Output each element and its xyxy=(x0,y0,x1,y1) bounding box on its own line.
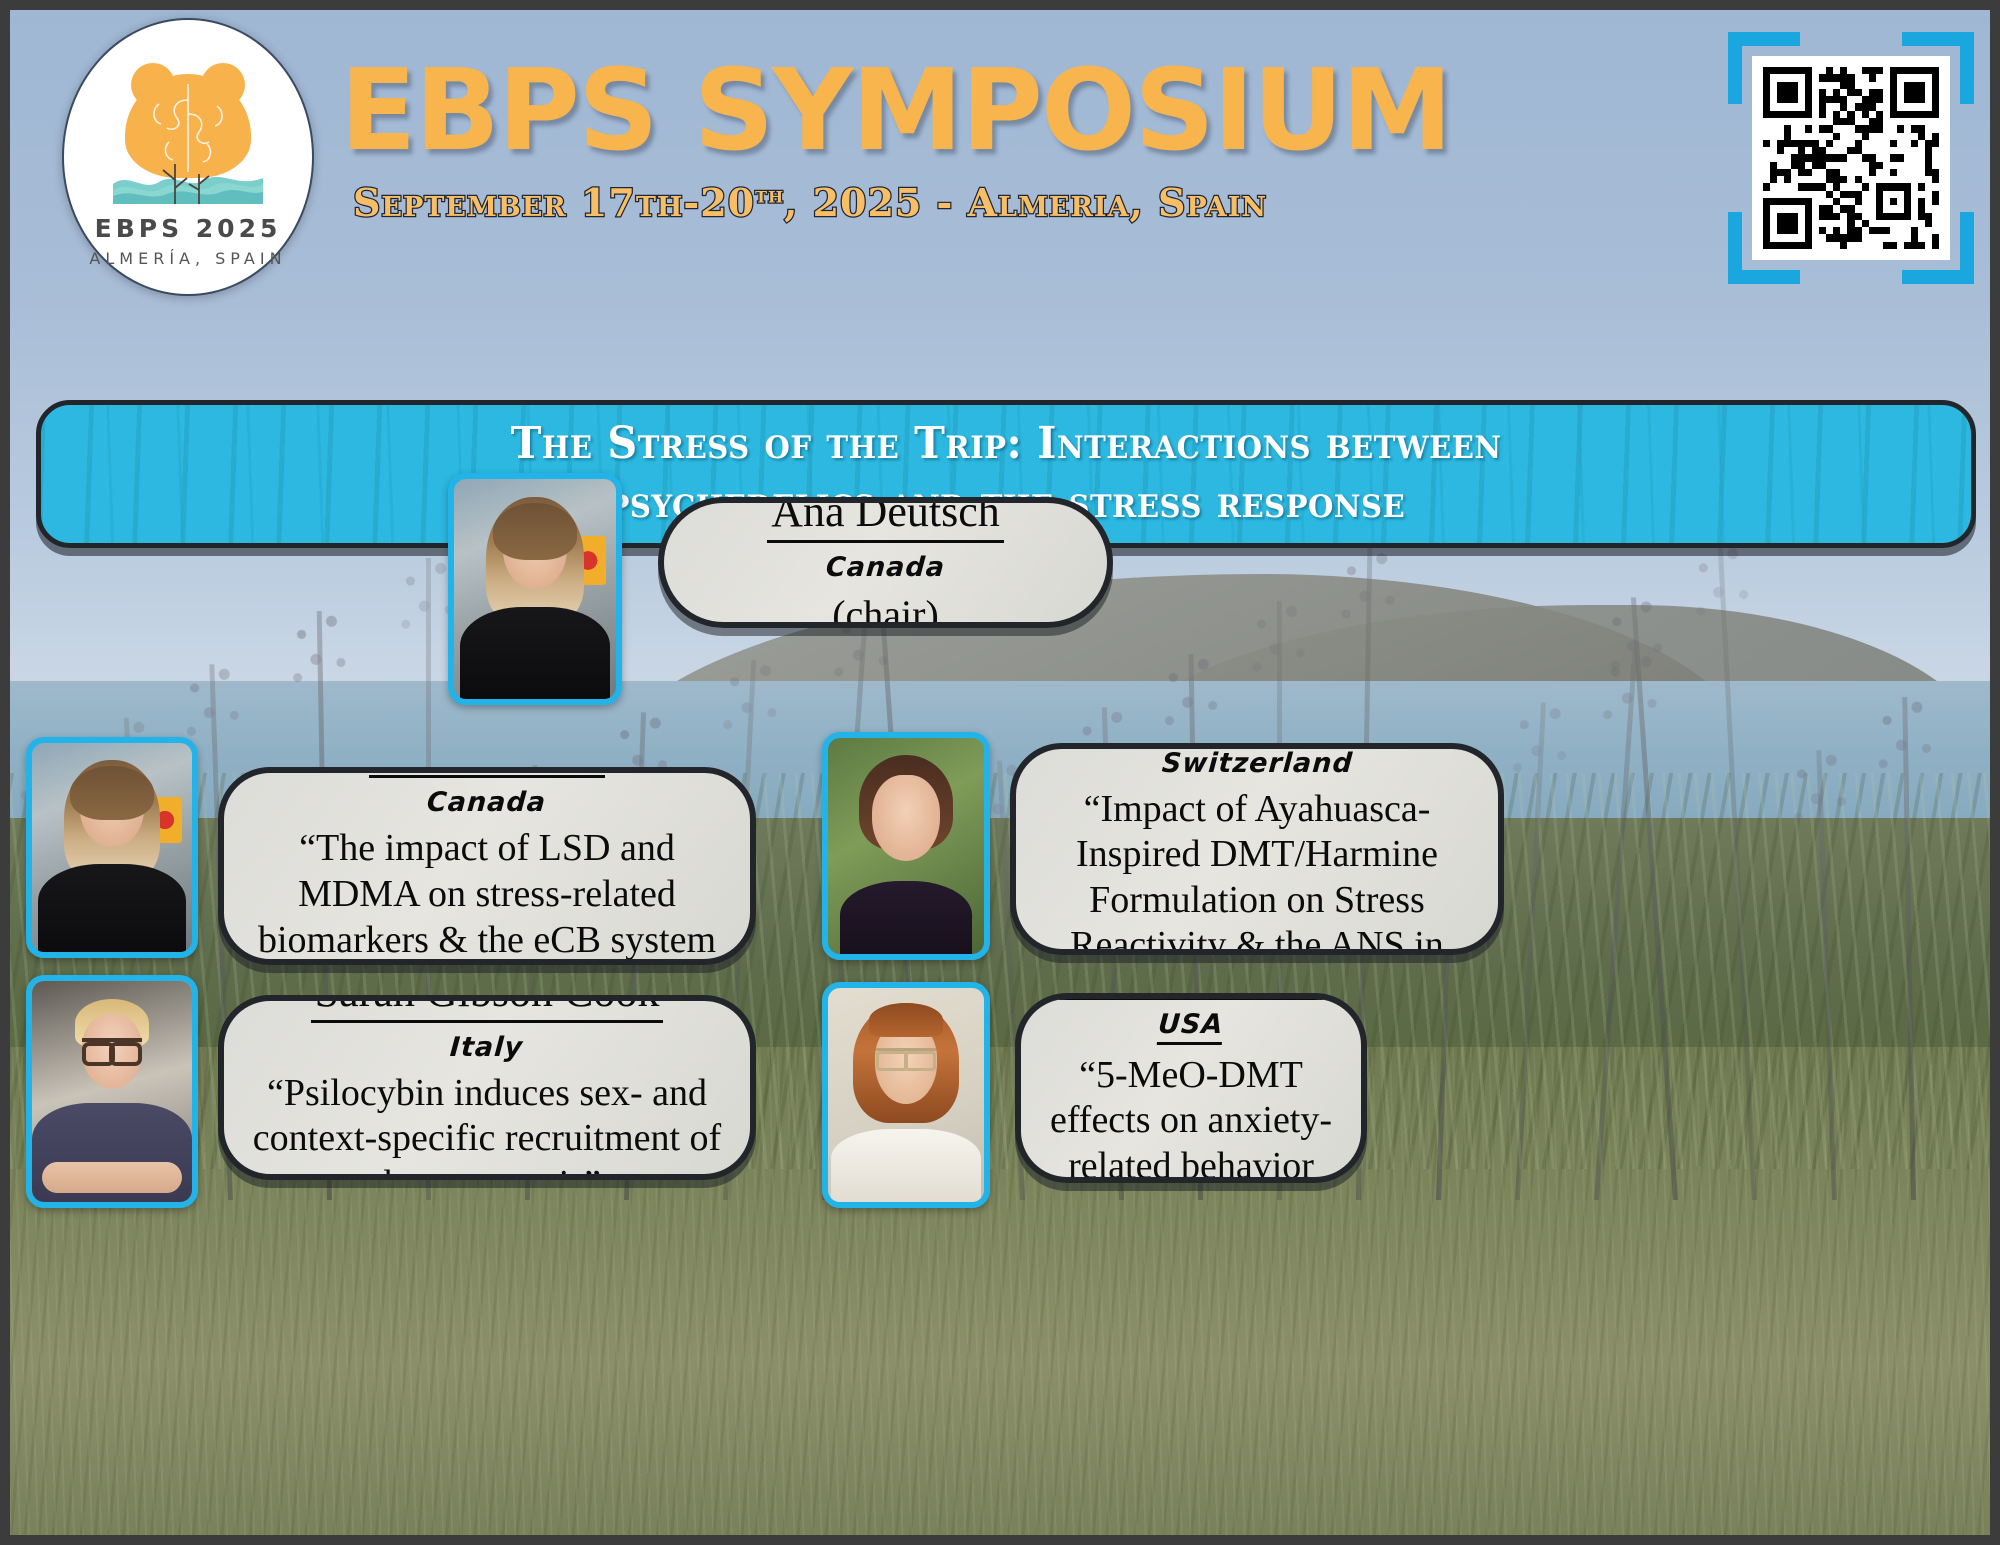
qr-module xyxy=(1911,140,1918,147)
qr-module xyxy=(1925,147,1932,154)
qr-module xyxy=(1897,74,1904,81)
qr-module xyxy=(1911,147,1918,154)
qr-module xyxy=(1869,220,1876,227)
qr-module xyxy=(1763,133,1770,140)
qr-module xyxy=(1883,111,1890,118)
qr-module xyxy=(1812,198,1819,205)
qr-module xyxy=(1777,205,1784,212)
qr-module xyxy=(1925,162,1932,169)
qr-module xyxy=(1911,82,1918,89)
qr-module xyxy=(1777,96,1784,103)
qr-module xyxy=(1904,198,1911,205)
qr-module xyxy=(1890,125,1897,132)
qr-module xyxy=(1847,118,1854,125)
qr-module xyxy=(1826,96,1833,103)
qr-module xyxy=(1791,205,1798,212)
qr-module xyxy=(1932,162,1939,169)
qr-module xyxy=(1904,220,1911,227)
qr-module xyxy=(1812,191,1819,198)
qr-module xyxy=(1812,74,1819,81)
qr-module xyxy=(1798,125,1805,132)
qr-module xyxy=(1847,96,1854,103)
qr-module xyxy=(1770,183,1777,190)
qr-module xyxy=(1770,103,1777,110)
qr-module xyxy=(1798,220,1805,227)
qr-module xyxy=(1869,183,1876,190)
qr-module xyxy=(1932,242,1939,249)
qr-module xyxy=(1784,242,1791,249)
qr-module xyxy=(1840,213,1847,220)
qr-module xyxy=(1840,103,1847,110)
qr-module xyxy=(1798,162,1805,169)
qr-module xyxy=(1798,89,1805,96)
qr-module xyxy=(1890,140,1897,147)
qr-module xyxy=(1862,125,1869,132)
qr-module xyxy=(1798,82,1805,89)
waves-icon xyxy=(113,158,263,204)
qr-module xyxy=(1897,242,1904,249)
qr-module xyxy=(1883,234,1890,241)
qr-module xyxy=(1911,96,1918,103)
qr-module xyxy=(1855,89,1862,96)
qr-module xyxy=(1918,82,1925,89)
qr-module xyxy=(1791,220,1798,227)
qr-module xyxy=(1855,118,1862,125)
qr-module xyxy=(1918,118,1925,125)
qr-module xyxy=(1862,162,1869,169)
event-date-location: September 17th-20th, 2025 - Almeria, Spa… xyxy=(340,180,1280,225)
qr-module xyxy=(1911,176,1918,183)
qr-module xyxy=(1770,227,1777,234)
qr-module xyxy=(1925,133,1932,140)
qr-module xyxy=(1798,103,1805,110)
qr-module xyxy=(1911,154,1918,161)
qr-module xyxy=(1763,82,1770,89)
qr-module xyxy=(1918,242,1925,249)
qr-module xyxy=(1826,176,1833,183)
qr-module xyxy=(1798,234,1805,241)
qr-module xyxy=(1876,242,1883,249)
qr-module xyxy=(1805,227,1812,234)
qr-module xyxy=(1840,125,1847,132)
qr-module xyxy=(1897,118,1904,125)
qr-module xyxy=(1770,213,1777,220)
qr-module xyxy=(1918,220,1925,227)
qr-module xyxy=(1805,96,1812,103)
qr-module xyxy=(1925,234,1932,241)
qr-module xyxy=(1798,191,1805,198)
qr-module xyxy=(1904,89,1911,96)
qr-module xyxy=(1812,111,1819,118)
qr-module xyxy=(1869,140,1876,147)
qr-module xyxy=(1798,133,1805,140)
qr-module xyxy=(1819,103,1826,110)
qr-module xyxy=(1770,67,1777,74)
qr-module xyxy=(1812,234,1819,241)
qr-module xyxy=(1876,227,1883,234)
qr-module xyxy=(1847,191,1854,198)
qr-module xyxy=(1890,191,1897,198)
qr-module xyxy=(1883,191,1890,198)
qr-module xyxy=(1890,234,1897,241)
qr-module xyxy=(1869,82,1876,89)
qr-module xyxy=(1925,74,1932,81)
qr-module xyxy=(1918,103,1925,110)
qr-module xyxy=(1805,154,1812,161)
qr-module xyxy=(1862,147,1869,154)
qr-module xyxy=(1826,133,1833,140)
qr-module xyxy=(1890,213,1897,220)
qr-module xyxy=(1784,111,1791,118)
qr-module xyxy=(1791,82,1798,89)
qr-module xyxy=(1826,118,1833,125)
qr-module xyxy=(1833,234,1840,241)
qr-module xyxy=(1883,133,1890,140)
qr-module xyxy=(1819,82,1826,89)
qr-module xyxy=(1770,74,1777,81)
qr-module xyxy=(1932,67,1939,74)
qr-module xyxy=(1904,147,1911,154)
qr-module xyxy=(1791,242,1798,249)
qr-module xyxy=(1840,234,1847,241)
qr-module xyxy=(1798,242,1805,249)
chair-country: Canada xyxy=(825,552,946,583)
qr-module xyxy=(1784,125,1791,132)
qr-module xyxy=(1840,154,1847,161)
qr-module xyxy=(1847,125,1854,132)
qr-module xyxy=(1770,96,1777,103)
qr-module xyxy=(1855,154,1862,161)
qr-module xyxy=(1812,147,1819,154)
qr-module xyxy=(1791,133,1798,140)
qr-module xyxy=(1862,133,1869,140)
qr-module xyxy=(1911,220,1918,227)
speaker-card-ana-deutsch: Ana Deutsch Canada “The impact of LSD an… xyxy=(218,767,756,965)
qr-module xyxy=(1932,125,1939,132)
qr-module xyxy=(1812,169,1819,176)
portrait-sarah-gibson-cook xyxy=(32,981,192,1202)
qr-module xyxy=(1840,191,1847,198)
qr-module xyxy=(1840,205,1847,212)
qr-module xyxy=(1932,74,1939,81)
qr-module xyxy=(1876,169,1883,176)
qr-module xyxy=(1925,103,1932,110)
qr-module xyxy=(1840,82,1847,89)
qr-module xyxy=(1812,133,1819,140)
qr-module xyxy=(1798,96,1805,103)
qr-module xyxy=(1869,198,1876,205)
logo-artwork xyxy=(113,74,263,206)
qr-module xyxy=(1819,111,1826,118)
qr-module xyxy=(1862,67,1869,74)
qr-module xyxy=(1904,103,1911,110)
qr-module xyxy=(1798,74,1805,81)
qr-module xyxy=(1904,96,1911,103)
qr-module xyxy=(1840,89,1847,96)
qr-module xyxy=(1770,118,1777,125)
qr-module xyxy=(1925,96,1932,103)
qr-module xyxy=(1862,191,1869,198)
qr-module xyxy=(1932,111,1939,118)
qr-module xyxy=(1812,227,1819,234)
qr-module xyxy=(1819,205,1826,212)
qr-module xyxy=(1777,242,1784,249)
qr-module xyxy=(1770,176,1777,183)
qr-module xyxy=(1833,213,1840,220)
qr-module xyxy=(1869,111,1876,118)
qr-module xyxy=(1847,74,1854,81)
qr-module xyxy=(1826,140,1833,147)
qr-module xyxy=(1805,140,1812,147)
speaker-talk-title: “5-MeO-DMT effects on anxiety-related be… xyxy=(1043,1053,1339,1183)
poster-header: EBPS 2025 ALMERÍA, SPAIN EBPS SYMPOSIUM … xyxy=(10,10,1990,305)
qr-module xyxy=(1840,176,1847,183)
qr-module xyxy=(1770,169,1777,176)
qr-module xyxy=(1847,227,1854,234)
qr-module xyxy=(1918,74,1925,81)
qr-module xyxy=(1883,96,1890,103)
qr-module xyxy=(1890,154,1897,161)
qr-module xyxy=(1862,183,1869,190)
qr-module xyxy=(1932,96,1939,103)
qr-module xyxy=(1925,125,1932,132)
qr-module xyxy=(1763,205,1770,212)
qr-module xyxy=(1840,183,1847,190)
qr-module xyxy=(1784,227,1791,234)
qr-module xyxy=(1932,147,1939,154)
qr-module xyxy=(1897,198,1904,205)
qr-module xyxy=(1763,147,1770,154)
qr-module xyxy=(1925,191,1932,198)
qr-module xyxy=(1777,89,1784,96)
qr-module xyxy=(1833,169,1840,176)
qr-module xyxy=(1791,147,1798,154)
qr-module xyxy=(1833,191,1840,198)
qr-module xyxy=(1826,220,1833,227)
qr-module xyxy=(1805,133,1812,140)
qr-module xyxy=(1932,176,1939,183)
qr-module xyxy=(1904,74,1911,81)
qr-module xyxy=(1890,82,1897,89)
qr-module xyxy=(1812,205,1819,212)
qr-module xyxy=(1770,125,1777,132)
qr-module xyxy=(1904,176,1911,183)
qr-module xyxy=(1798,169,1805,176)
qr-module xyxy=(1777,103,1784,110)
qr-module xyxy=(1869,213,1876,220)
qr-module xyxy=(1862,154,1869,161)
qr-module xyxy=(1890,96,1897,103)
qr-module xyxy=(1784,103,1791,110)
qr-module xyxy=(1847,205,1854,212)
qr-module xyxy=(1763,234,1770,241)
qr-module xyxy=(1883,103,1890,110)
qr-module xyxy=(1904,133,1911,140)
qr-module xyxy=(1791,89,1798,96)
speaker-talk-title: “The impact of LSD and MDMA on stress-re… xyxy=(246,826,728,965)
qr-module xyxy=(1812,67,1819,74)
qr-module xyxy=(1925,111,1932,118)
qr-code[interactable] xyxy=(1728,32,1974,284)
qr-module xyxy=(1904,140,1911,147)
qr-module xyxy=(1918,89,1925,96)
qr-module xyxy=(1826,74,1833,81)
qr-module xyxy=(1918,198,1925,205)
qr-module xyxy=(1855,191,1862,198)
qr-module xyxy=(1791,96,1798,103)
qr-module xyxy=(1847,242,1854,249)
qr-module xyxy=(1855,162,1862,169)
qr-module xyxy=(1833,205,1840,212)
qr-module xyxy=(1897,162,1904,169)
qr-module xyxy=(1883,213,1890,220)
glasses-icon xyxy=(876,1048,935,1065)
speaker-name: Margareth Nogueira xyxy=(1043,993,1339,1000)
qr-module xyxy=(1805,183,1812,190)
qr-module xyxy=(1812,82,1819,89)
qr-module xyxy=(1897,111,1904,118)
qr-module xyxy=(1918,140,1925,147)
qr-module xyxy=(1918,176,1925,183)
qr-module xyxy=(1833,111,1840,118)
qr-module xyxy=(1932,191,1939,198)
qr-module xyxy=(1847,147,1854,154)
qr-module xyxy=(1826,125,1833,132)
qr-module xyxy=(1833,96,1840,103)
qr-module xyxy=(1840,147,1847,154)
qr-module xyxy=(1925,213,1932,220)
qr-module xyxy=(1847,140,1854,147)
qr-module xyxy=(1833,74,1840,81)
qr-module xyxy=(1876,67,1883,74)
qr-module xyxy=(1876,191,1883,198)
qr-module xyxy=(1932,103,1939,110)
qr-module xyxy=(1876,111,1883,118)
qr-module xyxy=(1812,96,1819,103)
chair-role: (chair) xyxy=(832,591,939,628)
qr-module xyxy=(1812,213,1819,220)
qr-module xyxy=(1763,220,1770,227)
qr-module xyxy=(1784,74,1791,81)
qr-module xyxy=(1932,82,1939,89)
qr-module xyxy=(1855,82,1862,89)
qr-module xyxy=(1862,103,1869,110)
qr-module xyxy=(1840,242,1847,249)
qr-module xyxy=(1763,89,1770,96)
qr-module xyxy=(1784,154,1791,161)
qr-module xyxy=(1805,234,1812,241)
qr-module xyxy=(1897,103,1904,110)
qr-module xyxy=(1876,125,1883,132)
qr-module xyxy=(1925,220,1932,227)
portrait-margareth-nogueira xyxy=(828,988,984,1202)
qr-module xyxy=(1791,118,1798,125)
qr-module xyxy=(1791,234,1798,241)
qr-module xyxy=(1812,162,1819,169)
qr-module xyxy=(1862,176,1869,183)
qr-module xyxy=(1763,111,1770,118)
qr-module xyxy=(1847,67,1854,74)
qr-module xyxy=(1805,162,1812,169)
qr-module xyxy=(1819,67,1826,74)
portrait-ana-deutsch xyxy=(32,743,192,952)
qr-module xyxy=(1763,140,1770,147)
qr-module xyxy=(1763,169,1770,176)
speaker-talk-title: “Psilocybin induces sex- and context-spe… xyxy=(246,1071,728,1180)
qr-module xyxy=(1876,118,1883,125)
qr-module xyxy=(1890,74,1897,81)
qr-module xyxy=(1826,82,1833,89)
qr-module xyxy=(1847,111,1854,118)
qr-module xyxy=(1798,205,1805,212)
qr-module xyxy=(1847,234,1854,241)
qr-module xyxy=(1862,140,1869,147)
qr-module xyxy=(1855,169,1862,176)
date-ordinal-suffix: th xyxy=(755,180,784,208)
qr-module xyxy=(1763,74,1770,81)
qr-module xyxy=(1932,220,1939,227)
qr-module xyxy=(1911,103,1918,110)
qr-module xyxy=(1763,67,1770,74)
qr-module xyxy=(1897,234,1904,241)
qr-module xyxy=(1805,89,1812,96)
qr-module xyxy=(1918,169,1925,176)
qr-module xyxy=(1819,183,1826,190)
qr-module xyxy=(1883,227,1890,234)
qr-module xyxy=(1791,213,1798,220)
qr-module xyxy=(1869,227,1876,234)
qr-module xyxy=(1897,169,1904,176)
qr-module xyxy=(1876,154,1883,161)
qr-module xyxy=(1925,242,1932,249)
qr-module xyxy=(1847,213,1854,220)
qr-module xyxy=(1897,213,1904,220)
qr-module xyxy=(1791,191,1798,198)
qr-module xyxy=(1826,103,1833,110)
qr-module xyxy=(1805,169,1812,176)
qr-module xyxy=(1791,111,1798,118)
qr-module xyxy=(1777,198,1784,205)
qr-code-image[interactable] xyxy=(1752,56,1950,260)
qr-module xyxy=(1791,67,1798,74)
qr-module xyxy=(1925,118,1932,125)
qr-module xyxy=(1770,205,1777,212)
qr-module xyxy=(1869,118,1876,125)
qr-module xyxy=(1847,183,1854,190)
qr-module xyxy=(1805,205,1812,212)
qr-module xyxy=(1918,111,1925,118)
qr-module xyxy=(1869,125,1876,132)
speaker-country: Switzerland xyxy=(1160,748,1353,779)
qr-module xyxy=(1833,125,1840,132)
qr-module xyxy=(1819,154,1826,161)
qr-module xyxy=(1840,118,1847,125)
portrait-ana-deutsch xyxy=(454,479,616,699)
title-block: EBPS SYMPOSIUM September 17th-20th, 2025… xyxy=(340,58,1280,225)
qr-module xyxy=(1770,198,1777,205)
qr-module xyxy=(1826,162,1833,169)
qr-module xyxy=(1855,133,1862,140)
qr-module xyxy=(1833,140,1840,147)
qr-module xyxy=(1925,176,1932,183)
qr-module xyxy=(1932,169,1939,176)
qr-module xyxy=(1904,169,1911,176)
qr-module xyxy=(1840,220,1847,227)
qr-module xyxy=(1847,103,1854,110)
qr-module xyxy=(1911,67,1918,74)
qr-module xyxy=(1798,183,1805,190)
qr-module xyxy=(1890,205,1897,212)
